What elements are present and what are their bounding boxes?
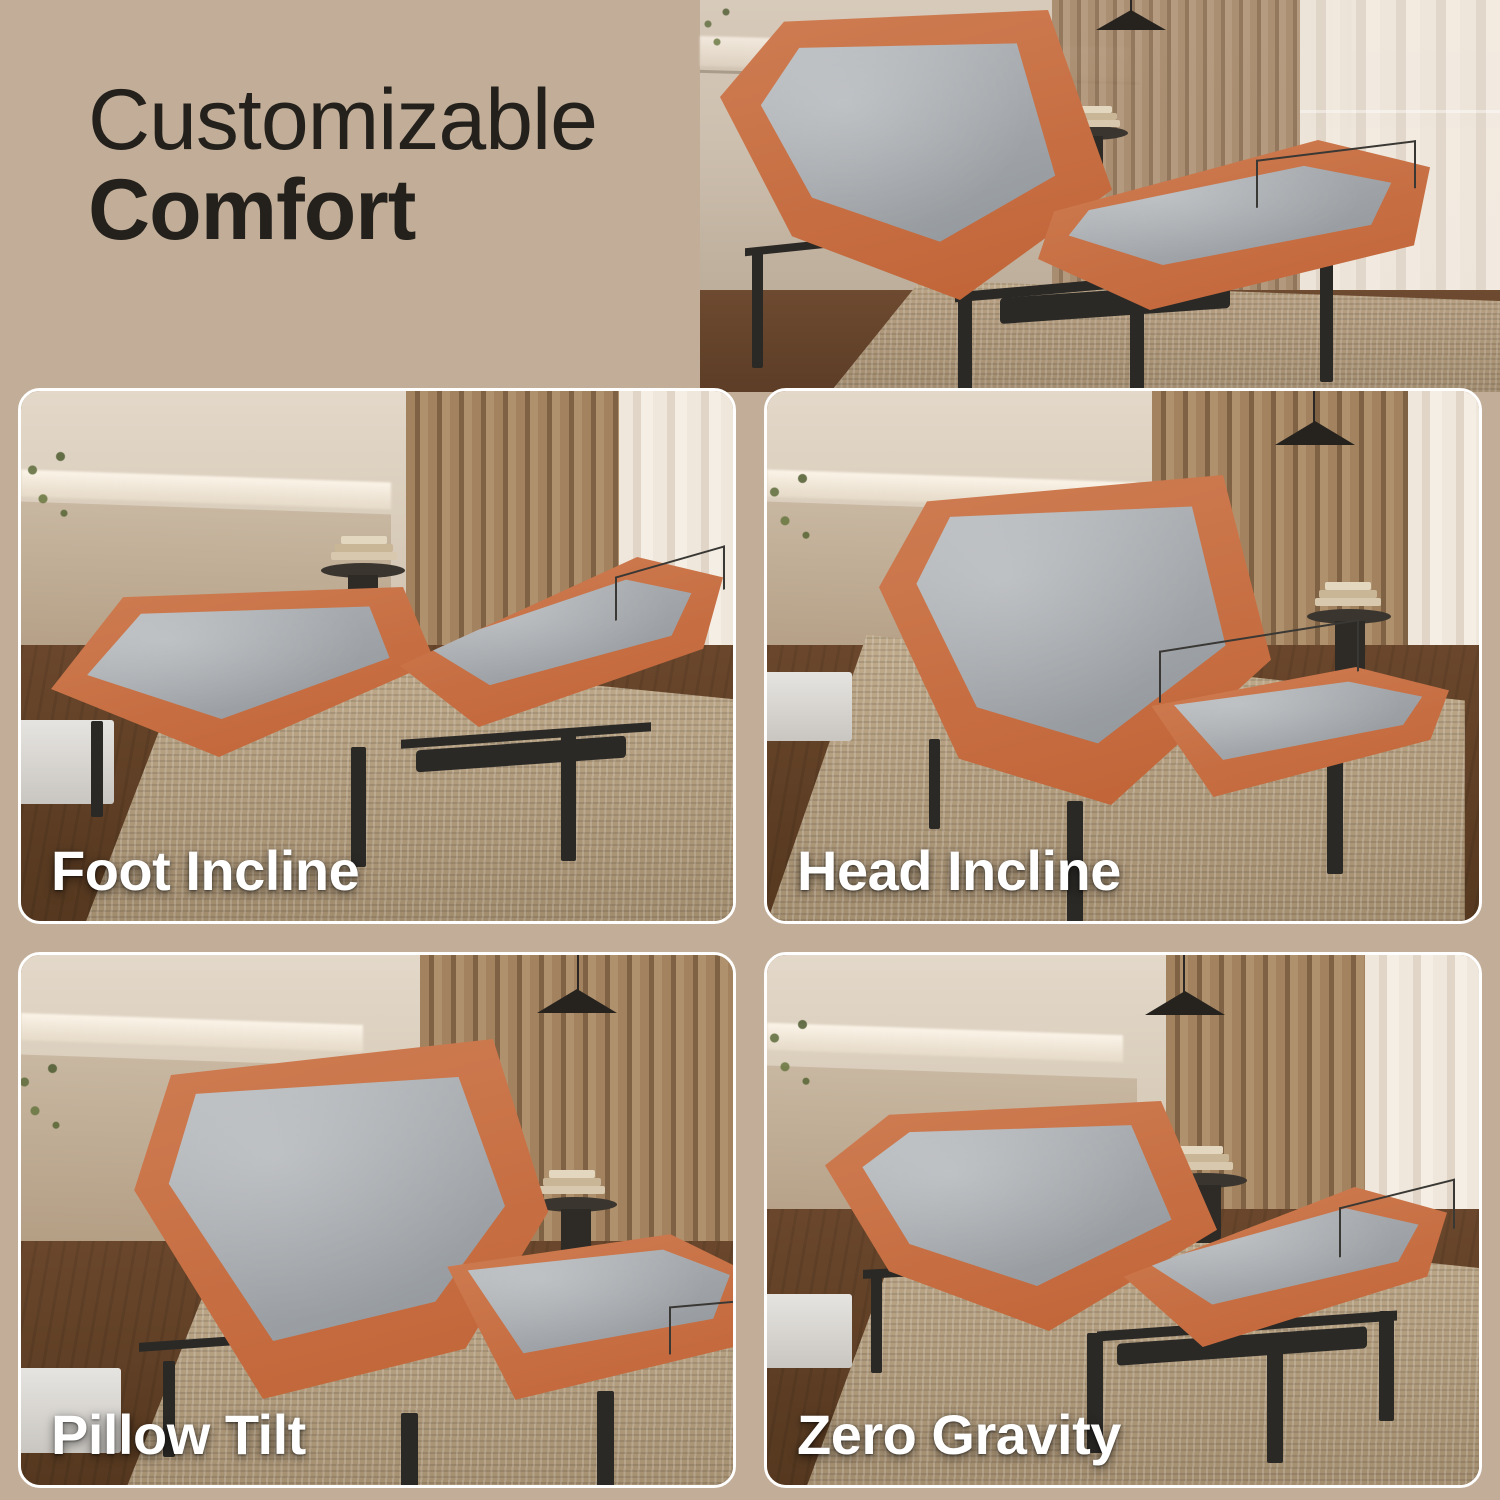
panel-label: Pillow Tilt bbox=[51, 1402, 306, 1467]
bed-leg bbox=[1379, 1311, 1394, 1421]
bed-leg bbox=[1327, 759, 1343, 874]
panel-label: Head Incline bbox=[797, 838, 1121, 903]
bed-leg bbox=[958, 290, 972, 392]
bed-leg bbox=[929, 739, 940, 829]
headline-line-2: Comfort bbox=[88, 162, 808, 258]
bed-leg bbox=[91, 721, 103, 817]
bed-leg bbox=[1320, 252, 1333, 382]
bed-leg bbox=[871, 1273, 882, 1373]
panel-label: Foot Incline bbox=[51, 838, 359, 903]
panel-pillow-tilt[interactable]: Pillow Tilt bbox=[18, 952, 736, 1488]
mattress-retainer-bar bbox=[669, 1300, 736, 1355]
panel-label: Zero Gravity bbox=[797, 1402, 1121, 1467]
hero-bed bbox=[700, 0, 1500, 392]
position-panel-grid: Foot Incline bbox=[18, 388, 1482, 1482]
hero-banner: Customizable Comfort bbox=[0, 0, 1500, 392]
bed-leg bbox=[401, 1413, 418, 1488]
bed-leg bbox=[752, 248, 763, 368]
headline-line-1: Customizable bbox=[88, 78, 808, 162]
mattress-deck bbox=[849, 1122, 1185, 1297]
page-title: Customizable Comfort bbox=[88, 78, 808, 259]
panel-foot-incline[interactable]: Foot Incline bbox=[18, 388, 736, 924]
hero-room-scene bbox=[700, 0, 1500, 392]
panel-zero-gravity[interactable]: Zero Gravity bbox=[764, 952, 1482, 1488]
mattress-deck bbox=[67, 604, 403, 726]
bed-leg bbox=[1267, 1343, 1283, 1463]
bed-leg bbox=[597, 1391, 614, 1488]
panel-head-incline[interactable]: Head Incline bbox=[764, 388, 1482, 924]
